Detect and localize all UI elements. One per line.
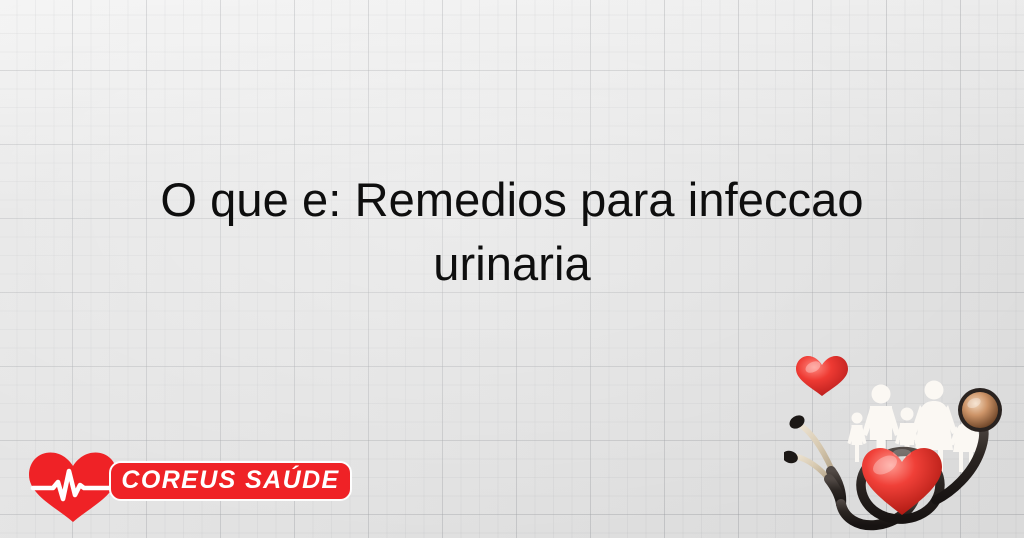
small-red-heart (796, 356, 848, 396)
page-title-line-2: urinaria (60, 232, 964, 296)
brand-name-label: COREUS SAÚDE (121, 468, 339, 494)
stethoscope-heart-family-graphic (784, 352, 1024, 538)
heart-with-ecg-pulse-icon (27, 451, 119, 523)
slide-canvas: O que e: Remedios para infeccao urinaria… (0, 0, 1024, 538)
brand-name-badge: COREUS SAÚDE (109, 461, 352, 501)
page-title-line-1: O que e: Remedios para infeccao (60, 168, 964, 232)
page-title: O que e: Remedios para infeccao urinaria (60, 168, 964, 296)
stethoscope-earpieces (784, 413, 832, 478)
stethoscope-chestpiece (958, 388, 1002, 432)
brand-logo[interactable]: COREUS SAÚDE (27, 449, 352, 525)
